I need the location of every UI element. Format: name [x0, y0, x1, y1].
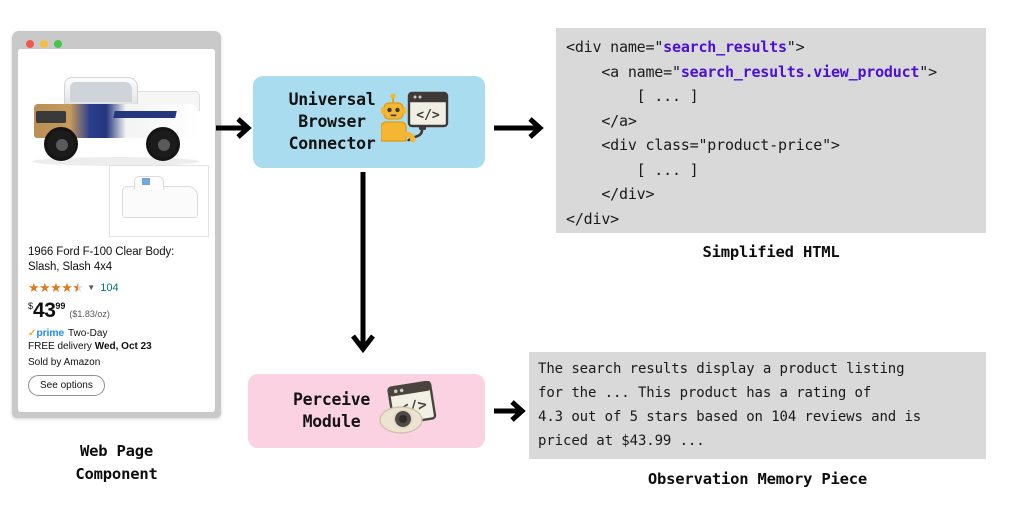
html-code-token: "	[654, 38, 663, 56]
html-code-token: ">	[787, 38, 805, 56]
arrow-card-to-connector	[214, 108, 258, 148]
observation-memory-panel: The search results display a product lis…	[529, 352, 986, 459]
price-currency-symbol: $	[28, 301, 33, 311]
html-code-line: [ ... ]	[566, 84, 976, 109]
html-code-token: [ ... ]	[566, 87, 698, 105]
sold-by: Sold by Amazon	[28, 357, 205, 368]
price-per-unit: ($1.83/oz)	[69, 309, 110, 319]
html-code-line: <a name="search_results.view_product">	[566, 60, 976, 85]
review-count[interactable]: 104	[100, 282, 118, 294]
minimize-dot-icon[interactable]	[40, 40, 48, 48]
html-code-token: <div class="product-price">	[566, 136, 840, 154]
arrow-connector-to-perceive	[343, 170, 383, 370]
perceive-module-label: Perceive Module	[293, 389, 370, 433]
html-attr-value: search_results	[663, 38, 787, 56]
see-options-button[interactable]: See options	[28, 375, 105, 396]
html-code-line: </div>	[566, 182, 976, 207]
svg-text:</>: </>	[417, 108, 441, 123]
html-code-token: ">	[919, 63, 937, 81]
delivery-prefix: FREE delivery	[28, 341, 95, 352]
arrow-perceive-to-observation	[492, 391, 534, 431]
observation-line: for the ... This product has a rating of	[538, 381, 977, 405]
truck-rear-wheel	[146, 127, 180, 161]
window-traffic-lights	[26, 40, 62, 48]
caption-simplified-html: Simplified HTML	[556, 241, 986, 264]
html-code-line: </div>	[566, 207, 976, 232]
eye-code-window-icon: </>	[378, 381, 440, 441]
clear-body-accent-icon	[142, 178, 150, 185]
truck-grille	[36, 111, 66, 123]
observation-line: 4.3 out of 5 stars based on 104 reviews …	[538, 405, 977, 429]
html-code-token: <a name=	[566, 63, 672, 81]
caption-observation-memory: Observation Memory Piece	[529, 468, 986, 491]
truck-window	[70, 82, 132, 102]
universal-browser-connector-box[interactable]: Universal Browser Connector </>	[253, 76, 485, 168]
diagram-canvas: 1966 Ford F-100 Clear Body: Slash, Slash…	[0, 0, 1030, 523]
star-rating-icon[interactable]: ★★★★★★	[28, 281, 83, 294]
html-code-token: </div>	[566, 210, 619, 228]
html-code-line: <div name="search_results">	[566, 35, 976, 60]
universal-browser-connector-label: Universal Browser Connector	[289, 89, 376, 155]
html-code-line: <div class="product-price">	[566, 133, 976, 158]
prime-check-icon: ✓	[28, 328, 36, 339]
close-dot-icon[interactable]	[26, 40, 34, 48]
html-code-token: [ ... ]	[566, 161, 698, 179]
html-code-token: <div name=	[566, 38, 654, 56]
observation-line: priced at $43.99 ...	[538, 429, 977, 453]
product-thumbnail[interactable]	[109, 165, 209, 237]
html-code-token: </div>	[566, 185, 654, 203]
caption-web-page-component: Web Page Component	[12, 440, 221, 486]
delivery-date: Wed, Oct 23	[95, 341, 152, 352]
prime-badge-row: ✓ prime Two-Day	[28, 327, 205, 339]
web-page-component-window: 1966 Ford F-100 Clear Body: Slash, Slash…	[12, 31, 221, 418]
chevron-down-icon[interactable]: ▼	[87, 283, 95, 292]
price-row: $ 43 99 ($1.83/oz)	[28, 301, 205, 320]
html-code-line: [ ... ]	[566, 158, 976, 183]
prime-label: prime	[36, 327, 64, 339]
clear-body-shell-icon	[122, 186, 198, 218]
html-code-line: </a>	[566, 109, 976, 134]
html-code-token: </a>	[566, 112, 637, 130]
simplified-html-panel: <div name="search_results"> <a name="sea…	[556, 28, 986, 233]
rating-row: ★★★★★★ ▼ 104	[28, 281, 205, 294]
perceive-module-box[interactable]: Perceive Module </>	[248, 374, 485, 448]
observation-line: The search results display a product lis…	[538, 357, 977, 381]
product-card: 1966 Ford F-100 Clear Body: Slash, Slash…	[18, 49, 215, 412]
product-info: 1966 Ford F-100 Clear Body: Slash, Slash…	[18, 245, 215, 396]
truck-stripe	[113, 111, 176, 118]
html-code-token: "	[672, 63, 681, 81]
delivery-row: FREE delivery Wed, Oct 23	[28, 341, 205, 352]
arrow-connector-to-html	[492, 108, 552, 148]
maximize-dot-icon[interactable]	[54, 40, 62, 48]
price-fraction: 99	[55, 301, 65, 311]
prime-speed: Two-Day	[68, 328, 107, 339]
price-whole: 43	[33, 301, 55, 320]
truck-front-wheel	[44, 127, 78, 161]
html-attr-value: search_results.view_product	[681, 63, 919, 81]
product-title[interactable]: 1966 Ford F-100 Clear Body: Slash, Slash…	[28, 245, 205, 275]
robot-code-window-icon: </>	[381, 89, 449, 155]
